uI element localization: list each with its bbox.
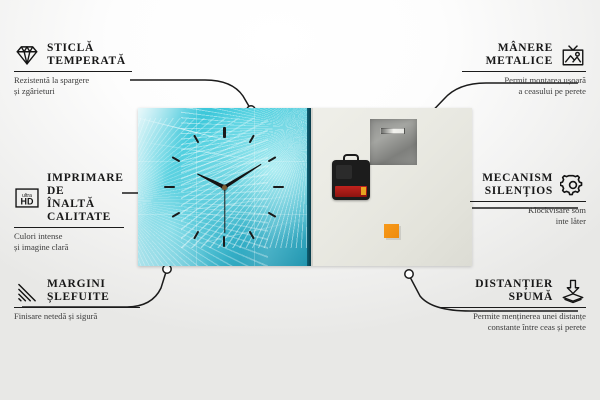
clock-dial [138, 108, 311, 266]
feature-title-2: SPUMĂ [475, 291, 553, 304]
feature-subtitle-2: și imagine clară [14, 242, 124, 253]
ultra-hd-icon: ultra HD [14, 185, 40, 211]
mechanism-hook [343, 154, 359, 162]
divider [14, 71, 132, 72]
gear-icon [560, 172, 586, 198]
feature-high-quality-print: ultra HD IMPRIMARE DE ÎNALTĂ CALITATE Cu… [14, 172, 124, 252]
picture-frame-hanging-icon [560, 42, 586, 68]
hanger-slot [380, 128, 405, 134]
diamond-icon [14, 42, 40, 68]
quartz-mechanism [332, 160, 370, 200]
divider [462, 71, 586, 72]
feature-polished-edges: MARGINI ȘLEFUITE Finisare netedă și sigu… [14, 278, 140, 322]
infographic-canvas: STICLĂ TEMPERATĂ Rezistentă la spargere … [0, 0, 600, 400]
feature-title-2: METALICE [486, 55, 553, 68]
divider [14, 227, 124, 228]
feature-subtitle: Rezistentă la spargere [14, 75, 132, 86]
polished-edges-icon [14, 278, 40, 304]
feature-silent-mechanism: MECANISM SILENȚIOS Klockvisare som inte … [470, 172, 586, 226]
feature-subtitle: Klockvisare som [470, 205, 586, 216]
ultra-hd-icon-bottom: HD [21, 197, 34, 207]
feature-subtitle-2: constante între ceas și perete [440, 322, 586, 333]
product-image [138, 108, 472, 266]
divider [470, 201, 586, 202]
metal-hanger [370, 119, 417, 165]
connector-tempered-glass [130, 80, 250, 108]
clock-second-hand [224, 187, 225, 233]
battery [335, 186, 367, 197]
clock-center-pin [222, 185, 227, 190]
feature-tempered-glass: STICLĂ TEMPERATĂ Rezistentă la spargere … [14, 42, 132, 96]
clock-face-panel [138, 108, 311, 266]
divider [14, 307, 140, 308]
feature-title-2: SILENȚIOS [482, 185, 553, 198]
clock-back-panel [311, 108, 472, 266]
feature-title-2: TEMPERATĂ [47, 55, 126, 68]
foam-spacer [384, 224, 399, 238]
arrow-down-layers-icon [560, 278, 586, 304]
feature-subtitle: Finisare netedă și sigură [14, 311, 140, 322]
feature-title: DISTANȚIER [475, 278, 553, 291]
mechanism-detail [336, 165, 352, 179]
feature-title: MECANISM [482, 172, 553, 185]
feature-subtitle: Permit montarea ușoară [462, 75, 586, 86]
feature-subtitle-2: a ceasului pe perete [462, 86, 586, 97]
feature-foam-spacer: DISTANȚIER SPUMĂ Permite menținerea unei… [440, 278, 586, 332]
connector-dot-spacer [405, 270, 413, 278]
feature-metal-handles: MÂNERE METALICE Permit montarea ușoară a… [462, 42, 586, 96]
feature-title-2: ȘLEFUITE [47, 291, 109, 304]
feature-title: MARGINI [47, 278, 109, 291]
divider [440, 307, 586, 308]
feature-title: MÂNERE [486, 42, 553, 55]
feature-subtitle-2: și zgârieturi [14, 86, 132, 97]
connector-dot-edges [163, 265, 171, 273]
feature-title-2: ÎNALTĂ CALITATE [47, 198, 124, 224]
feature-title: IMPRIMARE DE [47, 172, 124, 198]
feature-title: STICLĂ [47, 42, 126, 55]
feature-subtitle-2: inte låter [470, 216, 586, 227]
feature-subtitle: Culori intense [14, 231, 124, 242]
feature-subtitle: Permite menținerea unei distanțe [440, 311, 586, 322]
